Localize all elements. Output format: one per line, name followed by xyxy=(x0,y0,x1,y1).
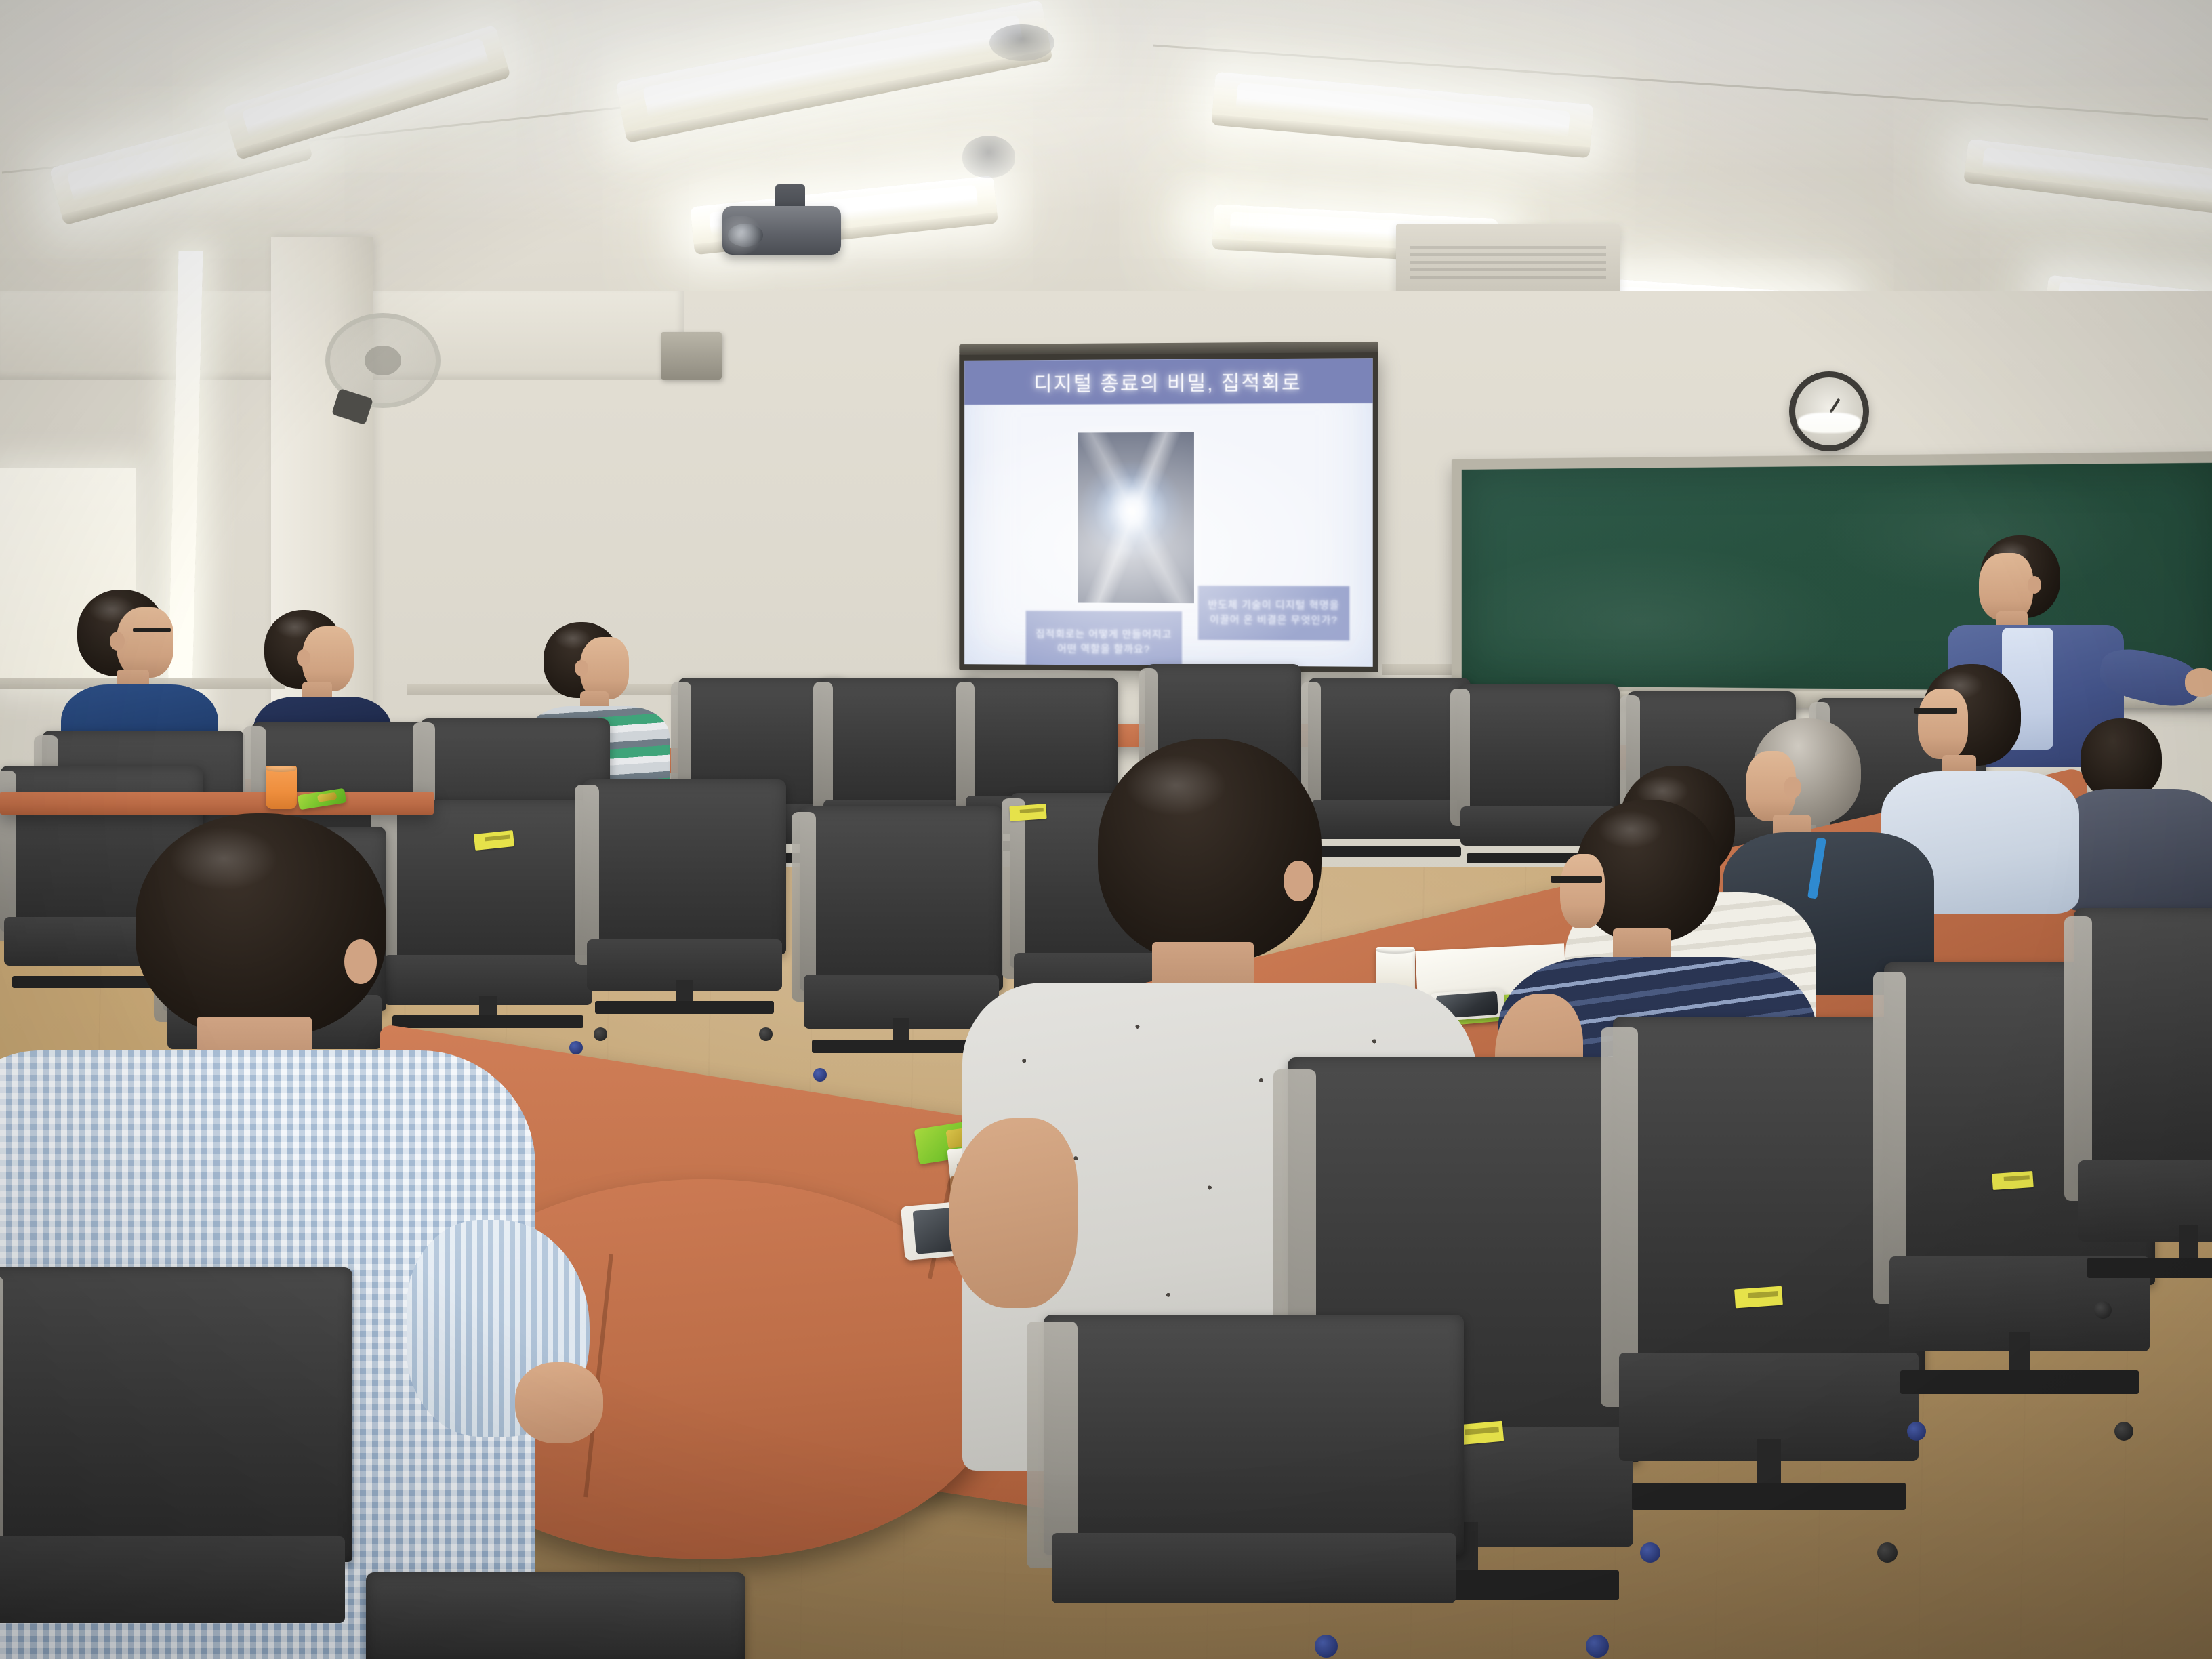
chair-caster xyxy=(1907,1422,1926,1441)
chair-base xyxy=(1900,1370,2139,1394)
chair-frame xyxy=(792,812,816,1002)
clock-hand xyxy=(1829,398,1840,413)
hair-highlight xyxy=(169,827,278,890)
chair-frame xyxy=(1027,1322,1077,1568)
air-conditioner-vent xyxy=(1396,224,1620,298)
eyeglasses xyxy=(1551,876,1602,883)
chair-frame xyxy=(956,682,975,815)
chair-frame xyxy=(1601,1027,1638,1407)
chair-back xyxy=(1044,1315,1464,1555)
chair-caster xyxy=(594,1027,607,1041)
chair[interactable] xyxy=(366,1572,745,1659)
chair-caster xyxy=(1586,1635,1609,1658)
smoke-detector-icon xyxy=(989,24,1054,61)
chair-base xyxy=(2087,1258,2212,1278)
hand xyxy=(515,1362,603,1443)
ear xyxy=(2028,576,2041,594)
chair-caster xyxy=(2114,1422,2133,1441)
chair-asset-sticker xyxy=(1992,1171,2034,1190)
chair-frame xyxy=(2064,916,2092,1201)
chair-caster xyxy=(2094,1301,2112,1319)
chair-base xyxy=(595,1001,774,1014)
slide-chip-image xyxy=(1078,432,1194,603)
chair-back xyxy=(366,1572,745,1659)
fan-hub xyxy=(365,346,401,376)
chair-seat xyxy=(0,1536,345,1623)
chair-base xyxy=(1632,1483,1906,1510)
chair-caster xyxy=(1640,1542,1660,1563)
chair-back xyxy=(2074,908,2212,1185)
wall-fan xyxy=(325,313,441,408)
chair[interactable] xyxy=(583,779,786,1037)
chair-back xyxy=(0,1267,352,1562)
presentation-slide: 디지털 종료의 비밀, 집적회로 집적회로는 어떻게 만들어지고 어떤 역할을 … xyxy=(964,358,1373,667)
ear xyxy=(297,649,310,667)
paper-cup-orange[interactable] xyxy=(266,766,297,809)
chair-frame xyxy=(813,682,833,819)
ear xyxy=(344,939,377,984)
ear xyxy=(1284,861,1313,901)
seminar-room-photo: 디지털 종료의 비밀, 집적회로 집적회로는 어떻게 만들어지고 어떤 역할을 … xyxy=(0,0,2212,1659)
ear xyxy=(575,660,588,676)
ear xyxy=(110,632,125,651)
table-rear-left xyxy=(0,792,434,815)
screen-roller-casing xyxy=(959,342,1378,355)
presenter-face xyxy=(1979,553,2033,621)
wall-speaker xyxy=(661,332,722,380)
hair-highlight xyxy=(1125,755,1227,816)
slide-text-box-right: 반도체 기술이 디지털 혁명을 이끌어 온 비결은 무엇인가? xyxy=(1198,586,1349,640)
slide-text-box-left: 집적회로는 어떻게 만들어지고 어떤 역할을 할까요? xyxy=(1026,611,1182,667)
chair[interactable] xyxy=(0,1267,352,1659)
chair-caster xyxy=(1877,1542,1898,1563)
chair-back xyxy=(800,806,1003,991)
projection-screen: 디지털 종료의 비밀, 집적회로 집적회로는 어떻게 만들어지고 어떤 역할을 … xyxy=(959,351,1378,672)
chair-frame xyxy=(1450,689,1470,826)
face xyxy=(117,607,173,678)
hair-highlight xyxy=(1598,811,1663,848)
chair[interactable] xyxy=(1044,1315,1464,1659)
projector-beam-glow xyxy=(714,216,764,255)
arm xyxy=(949,1118,1078,1308)
presenter-hand xyxy=(2185,668,2212,697)
eyeglasses xyxy=(1914,708,1957,714)
chair-asset-sticker xyxy=(1734,1286,1783,1309)
chair-seat xyxy=(1052,1533,1455,1603)
chair-frame xyxy=(0,1276,3,1580)
clock-glare xyxy=(1798,413,1860,433)
smoke-detector-icon xyxy=(962,136,1015,178)
wall-clock xyxy=(1789,371,1869,451)
chair-caster xyxy=(813,1068,827,1082)
eyeglasses xyxy=(133,628,171,632)
projector xyxy=(718,184,847,259)
chair-frame xyxy=(1873,972,1906,1304)
chair-back xyxy=(583,779,786,954)
slide-title: 디지털 종료의 비밀, 집적회로 xyxy=(964,358,1373,405)
chair[interactable] xyxy=(2074,908,2212,1315)
chair-caster xyxy=(759,1027,773,1041)
face xyxy=(1560,854,1605,928)
